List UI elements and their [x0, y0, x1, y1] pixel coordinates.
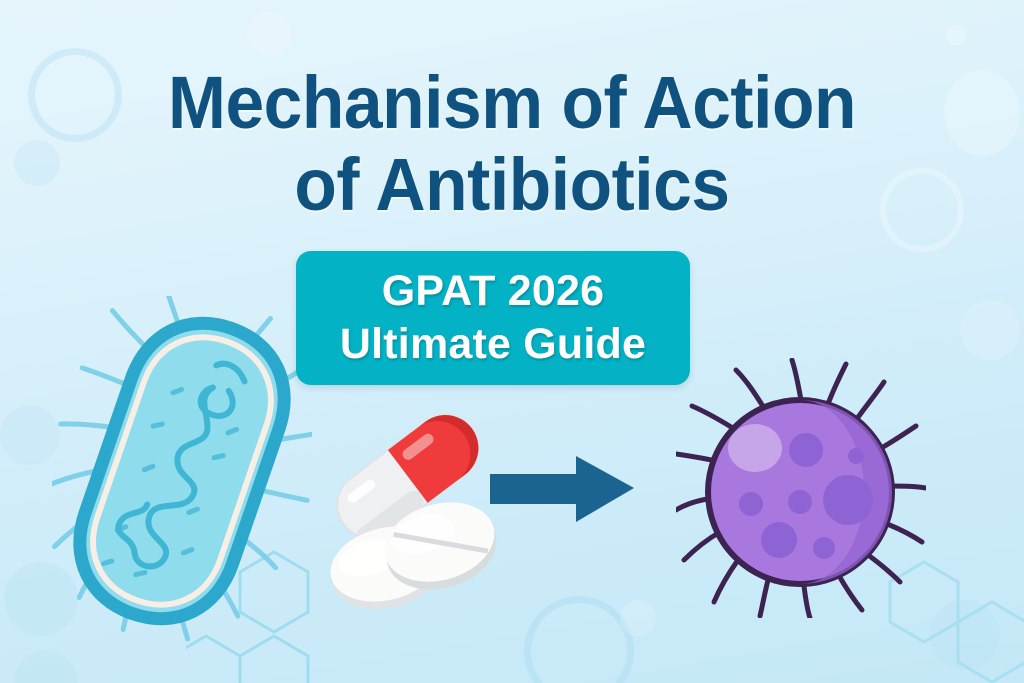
background-circle [14, 650, 78, 683]
title-line-2: of Antibiotics [31, 144, 994, 226]
bacterium-illustration [52, 296, 312, 646]
background-circle [524, 596, 634, 683]
poster-canvas: Mechanism of Action of Antibiotics GPAT … [0, 0, 1024, 683]
background-circle [930, 600, 1000, 670]
badge-line-2: Ultimate Guide [340, 318, 646, 371]
exam-badge[interactable]: GPAT 2026 Ultimate Guide [296, 251, 690, 385]
badge-line-1: GPAT 2026 [382, 265, 604, 318]
right-arrow-icon [484, 448, 644, 530]
microbe-illustration [676, 358, 926, 618]
background-circle [247, 12, 291, 56]
background-circle [0, 405, 60, 465]
title-line-1: Mechanism of Action [31, 62, 994, 144]
background-circle [620, 600, 656, 636]
background-circle [960, 300, 1020, 360]
poster-title: Mechanism of Action of Antibiotics [0, 62, 1024, 226]
background-circle [946, 25, 966, 45]
microbe-highlight [728, 424, 782, 472]
